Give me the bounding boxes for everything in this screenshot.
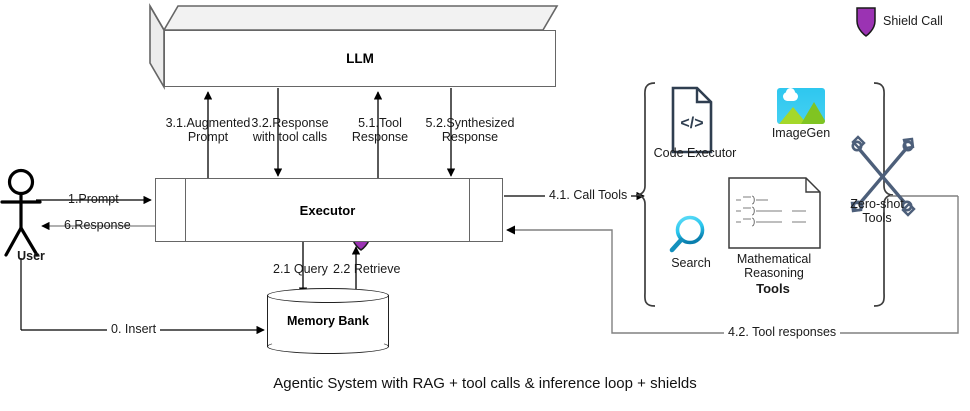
tool-label-zero-shot-tools[interactable]: Zero-shot Tools — [842, 197, 912, 225]
edge-label-retrieve: 2.2 Retrieve — [333, 262, 400, 276]
edge-label-line1: 5.1.Tool — [358, 116, 402, 130]
edge-label-line2: Prompt — [188, 130, 228, 144]
edge-label-synthesized-response: 5.2.Synthesized Response — [411, 116, 529, 144]
edge-label-response: 6.Response — [64, 218, 131, 232]
legend-label-shield-call: Shield Call — [883, 14, 943, 28]
tool-label-search[interactable]: Search — [663, 256, 719, 270]
tool-label-text: Mathematical Reasoning — [737, 252, 811, 280]
tool-label-text: Zero-shot Tools — [850, 197, 904, 225]
diagram-caption: Agentic System with RAG + tool calls & i… — [0, 375, 970, 392]
image-picture-icon — [777, 88, 825, 124]
tool-label-code-executor[interactable]: Code Executor — [648, 146, 742, 160]
code-document-icon: </> — [673, 88, 711, 152]
magnifying-glass-icon — [672, 218, 703, 251]
edge-label-line1: 3.2.Response — [251, 116, 328, 130]
edge-label-line2: Response — [352, 130, 408, 144]
hill-dark — [801, 102, 825, 124]
edge-label-tool-responses: 4.2. Tool responses — [724, 325, 840, 339]
tool-label-math-reasoning[interactable]: Mathematical Reasoning — [722, 252, 826, 280]
edge-label-query: 2.1 Query — [273, 262, 328, 276]
cloud-shape — [783, 92, 798, 101]
shield-icon-legend — [857, 8, 875, 36]
memory-bank-node[interactable]: Memory Bank — [267, 288, 389, 354]
edge-label-call-tools: 4.1. Call Tools — [545, 188, 631, 202]
edge-label-line2: Response — [442, 130, 498, 144]
tools-left-brace — [636, 83, 655, 306]
user-label: User — [2, 249, 60, 263]
user-stick-figure — [2, 171, 40, 256]
edge-label-insert: 0. Insert — [107, 322, 160, 336]
tool-label-image-gen[interactable]: ImageGen — [757, 126, 845, 140]
llm-node[interactable]: LLM — [150, 4, 558, 88]
executor-node-label: Executor — [185, 178, 470, 242]
tools-group-label: Tools — [718, 282, 828, 296]
formula-document-icon — [729, 178, 820, 248]
memory-bank-label: Memory Bank — [267, 295, 389, 347]
edge-label-prompt: 1.Prompt — [68, 192, 119, 206]
edge-label-line2: with tool calls — [253, 130, 327, 144]
llm-node-label: LLM — [164, 30, 556, 87]
edge-label-line1: 5.2.Synthesized — [426, 116, 515, 130]
tools-right-brace — [874, 83, 893, 306]
svg-text:</>: </> — [680, 115, 703, 132]
